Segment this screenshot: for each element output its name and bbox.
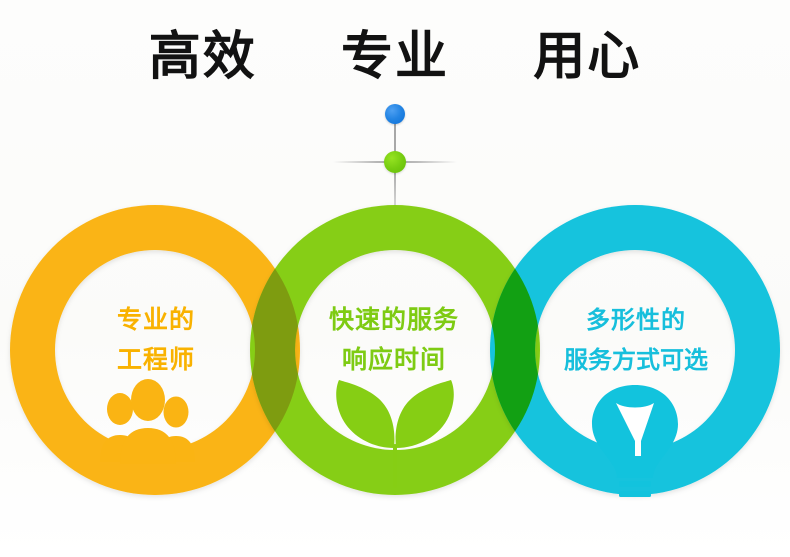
ring-2-line-2: 响应时间 [274, 340, 514, 380]
ring-1-line-1: 专业的 [36, 300, 276, 340]
ring-2-label: 快速的服务 响应时间 [274, 300, 514, 380]
ring-3-label: 多形性的 服务方式可选 [508, 300, 764, 380]
ring-3-line-2: 服务方式可选 [508, 340, 764, 380]
venn-rings [0, 0, 790, 557]
ring-1-label: 专业的 工程师 [36, 300, 276, 380]
ring-3-line-1: 多形性的 [508, 300, 764, 340]
poster-canvas: 高效 专业 用心 [0, 0, 790, 557]
ring-2-line-1: 快速的服务 [274, 300, 514, 340]
ring-1-line-2: 工程师 [36, 340, 276, 380]
